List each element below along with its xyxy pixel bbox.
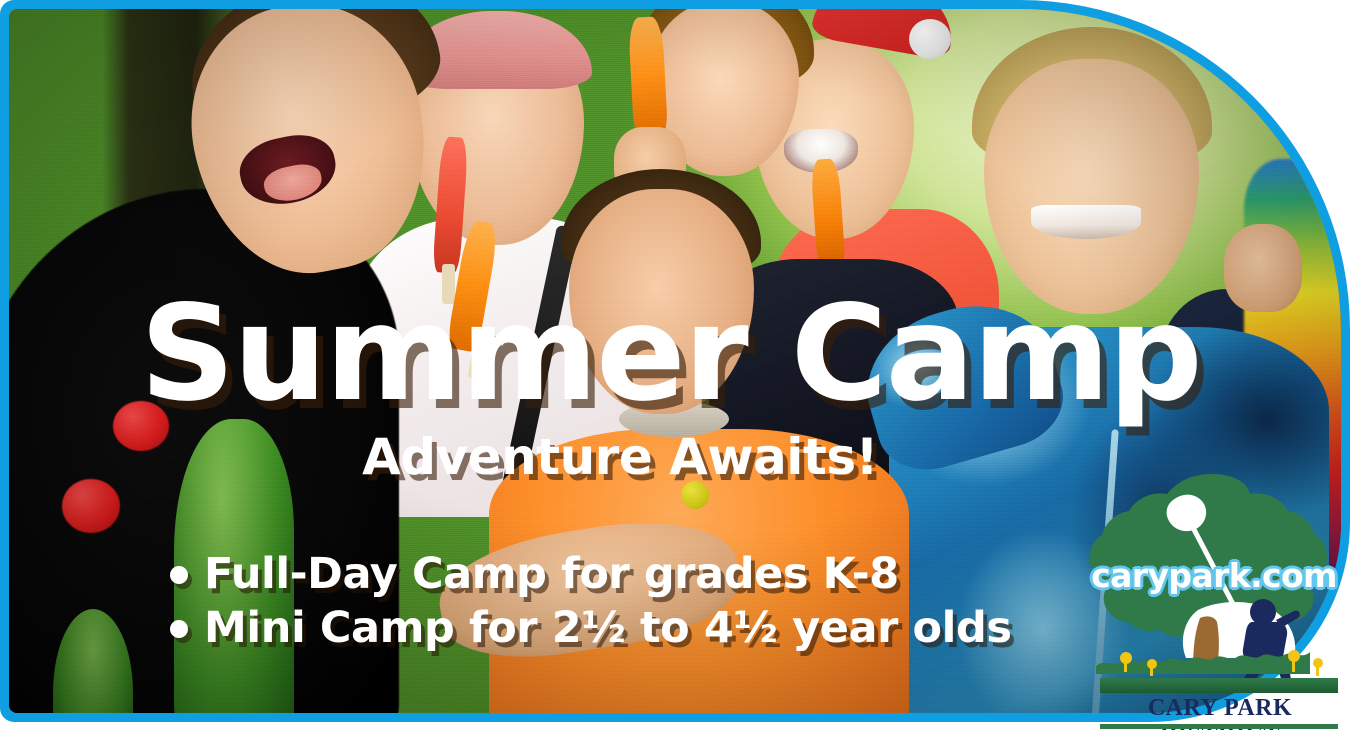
green-foliage-middle: [174, 419, 294, 713]
red-pompom-2: [62, 479, 120, 533]
red-pompom-1: [113, 401, 169, 451]
banner-stage: Summer Camp Adventure Awaits! Full-Day C…: [0, 0, 1350, 730]
logo-underline: [1100, 724, 1338, 729]
logo-green-bar: [1100, 678, 1338, 693]
child-hand-right: [1224, 224, 1302, 312]
hat-pompom-right: [909, 19, 951, 59]
child-smile-6: [1031, 205, 1141, 239]
popsicle-stick-1: [442, 264, 455, 304]
yellow-button: [681, 481, 709, 509]
website-url[interactable]: carypark.com: [1064, 556, 1350, 595]
cary-park-district-logo[interactable]: carypark.com CARY PARK DISTRICT: [1080, 470, 1350, 730]
